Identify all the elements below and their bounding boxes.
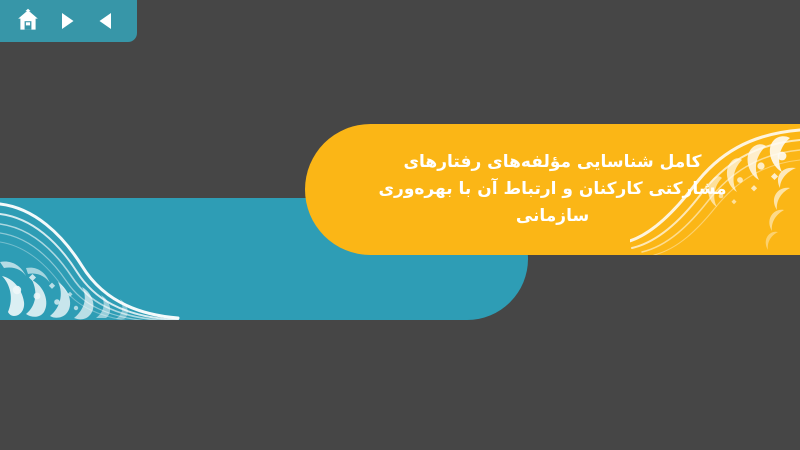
navigation-bar: [0, 0, 137, 42]
orange-banner: [305, 124, 800, 255]
slide-canvas: کامل شناسایی مؤلفه‌های رفتارهای مشارکتی …: [0, 0, 800, 450]
previous-button[interactable]: [91, 6, 121, 36]
triangle-left-icon: [95, 10, 117, 32]
triangle-right-icon: [56, 10, 78, 32]
arabesque-ornament-top-right-icon: [630, 124, 800, 255]
arabesque-ornament-bottom-left-icon: [0, 198, 180, 320]
next-button[interactable]: [52, 6, 82, 36]
home-button[interactable]: [13, 6, 43, 36]
home-icon: [15, 8, 41, 34]
